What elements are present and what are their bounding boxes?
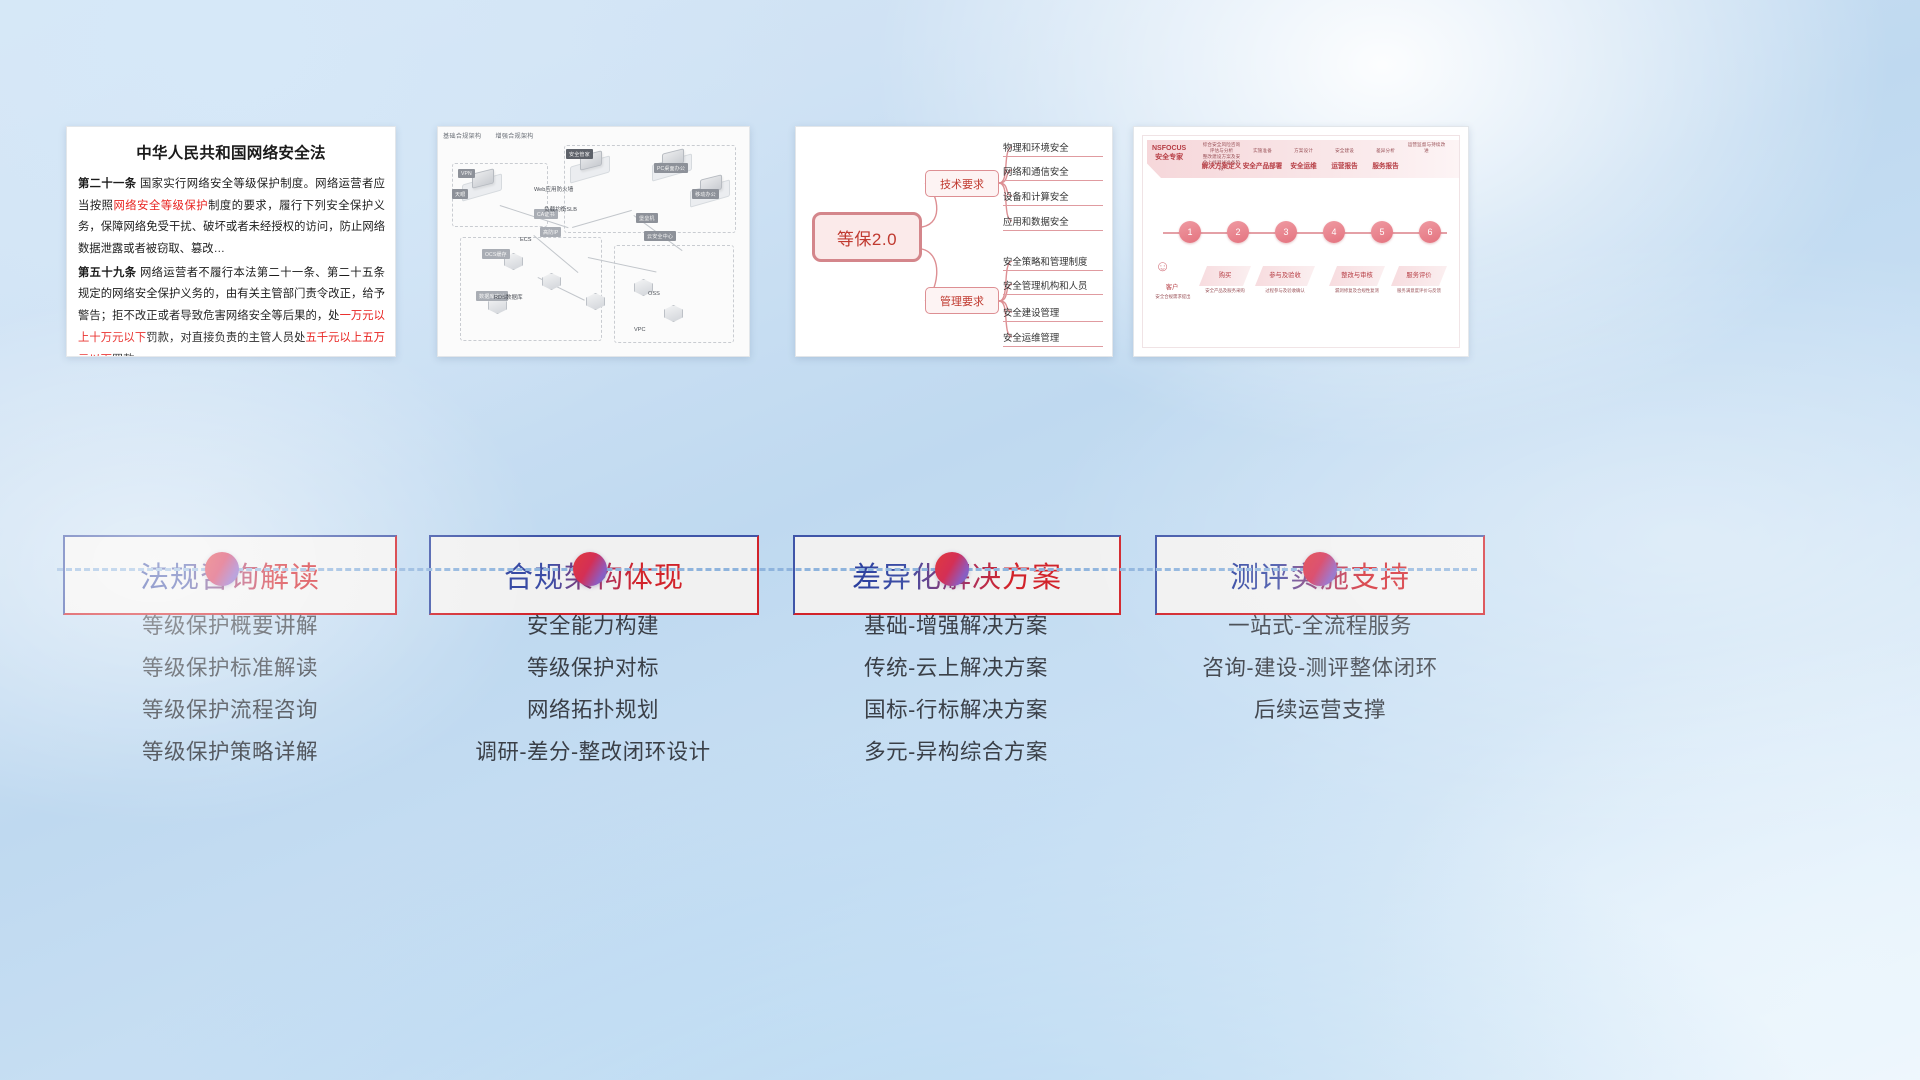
architecture-node-chip: 高防IP <box>540 227 561 237</box>
architecture-node-chip: 移动办公 <box>692 189 719 199</box>
architecture-zone-data <box>614 245 734 343</box>
mindmap-leaf: 应用和数据安全 <box>1003 214 1103 231</box>
list-item: 等级保护标准解读 <box>65 647 395 689</box>
timeline-dot-4 <box>1303 552 1337 586</box>
law-article-21: 第二十一条 国家实行网络安全等级保护制度。网络运营者应当按照网络安全等级保护制度… <box>78 174 385 261</box>
list-item: 等级保护对标 <box>428 647 758 689</box>
architecture-label-web: Web应用防火墙 <box>534 185 573 193</box>
service-timeline-step: 4 <box>1323 221 1345 243</box>
service-timeline-axis <box>1163 232 1447 234</box>
mindmap-leaf: 安全建设管理 <box>1003 305 1103 322</box>
service-timeline-step: 5 <box>1371 221 1393 243</box>
mindmap-diagram: 等保2.0 技术要求 管理要求 物理和环境安全 网络和通信安全 设备和计算安全 … <box>796 127 1112 356</box>
service-timeline-step: 6 <box>1419 221 1441 243</box>
sub-label: 安全产品部署 <box>1242 160 1283 170</box>
list-item: 多元-异构综合方案 <box>790 731 1122 773</box>
list-item: 一站式-全流程服务 <box>1150 605 1490 647</box>
list-item: 安全能力构建 <box>428 605 758 647</box>
architecture-header-left: 基础合规架构 <box>443 133 481 140</box>
sub-label: 安全运维 <box>1283 160 1324 170</box>
architecture-node-chip: VPN <box>458 169 475 178</box>
architecture-label-slb: 负载均衡SLB <box>544 205 577 213</box>
architecture-diagram: 基础合规架构增强合规架构 <box>438 127 749 356</box>
list-item: 网络拓扑规划 <box>428 689 758 731</box>
mindmap-leaf: 物理和环境安全 <box>1003 140 1103 157</box>
architecture-label-oss: OSS <box>648 291 660 297</box>
law-article-59-label: 第五十九条 <box>78 267 136 279</box>
nsfocus-logo-line1: NSFOCUS <box>1152 144 1186 153</box>
architecture-header: 基础合规架构增强合规架构 <box>443 131 534 140</box>
list-item: 咨询-建设-测评整体闭环 <box>1150 647 1490 689</box>
service-timeline-step: 2 <box>1227 221 1249 243</box>
architecture-node-chip: 天眼 <box>452 189 468 199</box>
top-label: 差异分析 <box>1365 148 1406 154</box>
architecture-node-chip: PC桌面办公 <box>654 163 688 173</box>
card-cybersecurity-law[interactable]: 中华人民共和国网络安全法 第二十一条 国家实行网络安全等级保护制度。网络运营者应… <box>66 126 396 357</box>
card-cloud-architecture[interactable]: 基础合规架构增强合规架构 <box>437 126 750 357</box>
sub-label: 服务报告 <box>1365 160 1406 170</box>
architecture-label-rds: RDS数据库 <box>494 293 523 301</box>
architecture-label-vpc: VPC <box>634 327 646 333</box>
customer-label: 客户 <box>1149 282 1195 291</box>
list-item: 传统-云上解决方案 <box>790 647 1122 689</box>
timeline-dot-3 <box>935 552 969 586</box>
sub-label: 运营报告 <box>1324 160 1365 170</box>
law-title: 中华人民共和国网络安全法 <box>67 141 395 163</box>
top-label: 安全建设 <box>1324 148 1365 154</box>
mindmap-leaf: 安全运维管理 <box>1003 330 1103 347</box>
law-article-21-highlight: 网络安全等级保护 <box>113 200 208 212</box>
slide-canvas: 中华人民共和国网络安全法 第二十一条 国家实行网络安全等级保护制度。网络运营者应… <box>0 0 1920 1080</box>
timeline-dot-2 <box>573 552 607 586</box>
timeline-dashed-line <box>57 568 1477 571</box>
mindmap-leaf: 安全策略和管理制度 <box>1003 254 1103 271</box>
architecture-header-right: 增强合规架构 <box>495 133 533 140</box>
sub-label: 解决方案定义 <box>1201 160 1242 170</box>
mindmap-leaf: 网络和通信安全 <box>1003 164 1103 181</box>
law-article-21-label: 第二十一条 <box>78 178 136 190</box>
service-timeline-step: 1 <box>1179 221 1201 243</box>
nsfocus-logo-line2: 安全专家 <box>1152 153 1186 162</box>
mindmap-branch-management: 管理要求 <box>925 287 999 314</box>
customer-sublabel: 安全合规需求提出 <box>1145 294 1201 300</box>
bottom-tag-label: 购买 <box>1199 270 1251 279</box>
bottom-tag-label: 整改与审核 <box>1329 270 1385 279</box>
bottom-tag-sub: 服务满意度评价与反馈 <box>1383 288 1455 294</box>
card-service-timeline[interactable]: NSFOCUS 安全专家 综合安全风险咨询评估与分析实施准备方案设计安全建设差异… <box>1133 126 1469 357</box>
list-item: 等级保护策略详解 <box>65 731 395 773</box>
timeline-dot-1 <box>205 552 239 586</box>
list-item: 等级保护概要讲解 <box>65 605 395 647</box>
law-article-59: 第五十九条 网络运营者不履行本法第二十一条、第二十五条规定的网络安全保护义务的，… <box>78 263 385 357</box>
feature-list-architecture: 安全能力构建 等级保护对标 网络拓扑规划 调研-差分-整改闭环设计 <box>428 605 758 774</box>
bottom-tag-label: 参与及验收 <box>1255 270 1315 279</box>
mindmap-root-node: 等保2.0 <box>812 212 922 262</box>
nsfocus-logo: NSFOCUS 安全专家 <box>1152 144 1186 163</box>
feature-list-solution: 基础-增强解决方案 传统-云上解决方案 国标-行标解决方案 多元-异构综合方案 <box>790 605 1122 774</box>
list-item: 调研-差分-整改闭环设计 <box>428 731 758 773</box>
top-label: 方案设计 <box>1283 148 1324 154</box>
law-article-59-text-2: 罚款，对直接负责的主管人员处 <box>146 332 305 344</box>
architecture-node-chip: 堡垒机 <box>636 213 658 223</box>
top-label: 实施准备 <box>1242 148 1283 154</box>
service-timeline-step: 3 <box>1275 221 1297 243</box>
card-mindmap[interactable]: 等保2.0 技术要求 管理要求 物理和环境安全 网络和通信安全 设备和计算安全 … <box>795 126 1113 357</box>
top-label: 综合安全风险咨询评估与分析 <box>1201 142 1242 154</box>
law-article-59-text-3: 罚款。 <box>112 354 146 358</box>
top-label: 运营监督与持续改进 <box>1406 142 1447 154</box>
architecture-label-ecs: ECS <box>520 237 532 243</box>
bottom-tag-label: 服务评价 <box>1391 270 1447 279</box>
service-timeline-frame: NSFOCUS 安全专家 综合安全风险咨询评估与分析实施准备方案设计安全建设差异… <box>1142 135 1460 348</box>
bottom-tag-sub: 过程参与及验收确认 <box>1251 288 1319 294</box>
customer-person-icon: ☺ <box>1155 258 1170 275</box>
image-cards-row: 中华人民共和国网络安全法 第二十一条 国家实行网络安全等级保护制度。网络运营者应… <box>0 126 1920 362</box>
feature-list-regulation: 等级保护概要讲解 等级保护标准解读 等级保护流程咨询 等级保护策略详解 <box>65 605 395 774</box>
service-timeline-diagram: NSFOCUS 安全专家 综合安全风险咨询评估与分析实施准备方案设计安全建设差异… <box>1134 127 1468 356</box>
list-item: 等级保护流程咨询 <box>65 689 395 731</box>
list-item: 后续运营支撑 <box>1150 689 1490 731</box>
bottom-tag-sub: 安全产品及服务采购 <box>1193 288 1257 294</box>
service-timeline-sub-labels: 解决方案定义安全产品部署安全运维运营报告服务报告 <box>1201 160 1406 170</box>
feature-list-assessment: 一站式-全流程服务 咨询-建设-测评整体闭环 后续运营支撑 <box>1150 605 1490 731</box>
architecture-node-chip: 云安全中心 <box>644 231 676 241</box>
architecture-node-chip: 安全管家 <box>566 149 593 159</box>
mindmap-leaf: 设备和计算安全 <box>1003 189 1103 206</box>
architecture-node-chip: OCS缓存 <box>482 249 510 259</box>
list-item: 国标-行标解决方案 <box>790 689 1122 731</box>
mindmap-branch-technical: 技术要求 <box>925 170 999 197</box>
list-item: 基础-增强解决方案 <box>790 605 1122 647</box>
law-body: 第二十一条 国家实行网络安全等级保护制度。网络运营者应当按照网络安全等级保护制度… <box>78 174 385 357</box>
mindmap-leaf: 安全管理机构和人员 <box>1003 278 1103 295</box>
